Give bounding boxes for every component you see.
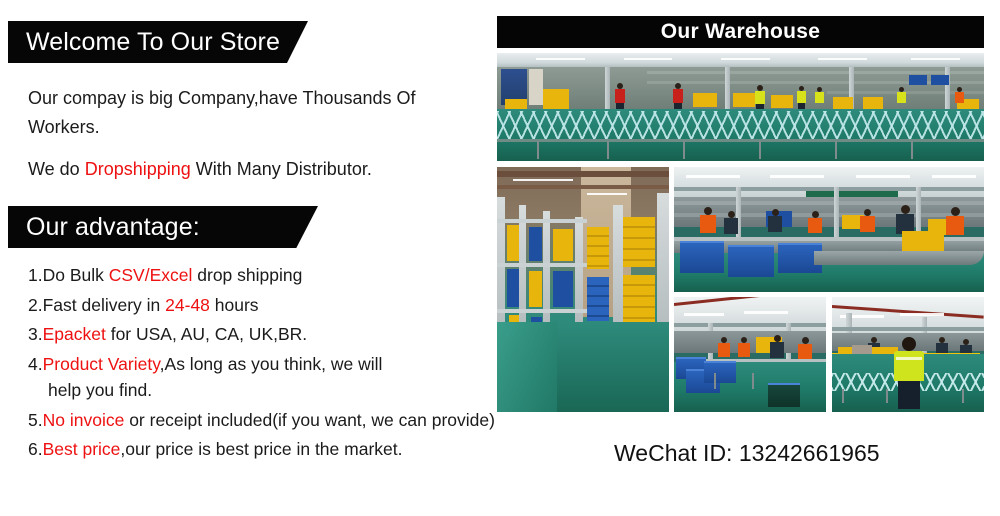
worker (860, 209, 875, 239)
worker-head (864, 209, 871, 216)
blue-bin (931, 75, 949, 85)
support-column (605, 67, 610, 111)
ceiling-lamp (770, 175, 824, 178)
yellow-drawer-bank (623, 275, 655, 327)
list-item-number: 5. (28, 412, 43, 430)
roof-beam (674, 323, 826, 327)
worker-head (951, 207, 960, 216)
photo-packing-line-blue-crates (674, 297, 826, 412)
conveyor-leg (714, 373, 716, 389)
scissor-lattice (497, 111, 984, 141)
foreground-worker (894, 337, 924, 409)
list-item-highlight: Epacket (43, 324, 106, 344)
ceiling-lamp (856, 175, 910, 178)
ceiling-lamp (686, 175, 740, 178)
list-item-post: drop shipping (192, 265, 302, 285)
list-item-post: ,As long as you think, we will (160, 354, 383, 374)
list-item-highlight: No invoice (43, 410, 125, 430)
list-item-pre: Do Bulk (43, 265, 109, 285)
photo-sorting-line-workers (674, 167, 984, 292)
worker-vest (797, 91, 806, 103)
list-item-highlight: Best price (43, 439, 121, 459)
photo-storage-racks-aisle (497, 167, 669, 412)
list-item-highlight: 24-48 (165, 295, 210, 315)
worker (615, 83, 625, 111)
ceiling-lamp (900, 313, 944, 316)
worker-vest (615, 89, 625, 103)
yellow-bin (771, 95, 793, 108)
worker-head (772, 209, 779, 216)
shelf-rail (647, 71, 984, 74)
ceiling-lamp (536, 58, 585, 60)
list-item-highlight: Product Variety (43, 354, 160, 374)
yellow-bin (733, 93, 755, 107)
worker (955, 87, 964, 111)
worker (673, 83, 683, 111)
yellow-drawer-bank (623, 217, 655, 267)
yellow-bin (507, 225, 519, 261)
list-item-highlight: CSV/Excel (109, 265, 193, 285)
worker-vest (798, 344, 812, 359)
yellow-bin (863, 97, 883, 109)
conveyor-leg (759, 141, 761, 159)
promo-banner-page: Welcome To Our Store Our compay is big C… (0, 0, 1000, 516)
intro-line-2-post: With Many Distributor. (191, 159, 372, 179)
worker-vest (718, 343, 730, 357)
worker-vest (755, 91, 765, 104)
blue-drawer-bank (587, 277, 609, 321)
shelf-rail (674, 213, 984, 217)
worker (815, 87, 824, 111)
scissor-conveyor (497, 111, 984, 141)
blue-crate (728, 245, 774, 277)
worker-vest (860, 216, 875, 232)
warehouse-photo-column: Our Warehouse (494, 0, 1000, 516)
packing-scene (674, 297, 826, 412)
intro-text-block: Our compay is big Company,have Thousands… (28, 84, 488, 184)
blue-bin (529, 227, 542, 261)
worker-vest (946, 216, 964, 235)
ceiling-lamp (911, 58, 960, 60)
shelf-rail (497, 263, 587, 267)
photo-yellow-table-packing-worker (832, 297, 984, 412)
blue-crate (680, 241, 724, 273)
worker-head (728, 211, 735, 218)
worker-vest (700, 215, 716, 233)
store-info-column: Welcome To Our Store Our compay is big C… (0, 0, 494, 516)
list-item-number: 4. (28, 354, 43, 374)
intro-line-2-highlight: Dropshipping (85, 159, 191, 179)
ceiling-lamp (721, 58, 770, 60)
worker-jacket (724, 218, 738, 234)
yellow-bin (833, 97, 853, 109)
roof-beam (497, 171, 669, 177)
worker-vest (738, 343, 750, 357)
worker-head (704, 207, 712, 215)
worker (768, 209, 782, 239)
worker-trousers (898, 381, 920, 409)
ceiling-lamp (818, 58, 867, 60)
worker-head (812, 211, 819, 218)
worker-vest (673, 89, 683, 103)
list-item-post: hours (210, 295, 259, 315)
roof-beam (832, 327, 984, 331)
conveyor-leg (842, 389, 844, 403)
worker-head (774, 335, 781, 342)
list-item-number: 6. (28, 441, 43, 459)
shelf-rail (674, 201, 984, 205)
vest-reflective-stripe (896, 357, 922, 360)
conveyor-leg (962, 389, 964, 403)
warehouse-banner: Our Warehouse (497, 16, 984, 48)
ceiling-lamp (587, 193, 627, 195)
conveyor-leg (886, 389, 888, 403)
roof-beam (497, 185, 669, 189)
list-item-text: Product Variety,As long as you think, we… (43, 354, 383, 374)
yellow-table-scene (832, 297, 984, 412)
wall-panel (529, 69, 543, 105)
worker-vest (808, 218, 822, 233)
list-item-post: for USA, AU, CA, UK,BR. (106, 324, 307, 344)
worker (808, 211, 822, 239)
conveyor-leg (683, 141, 685, 159)
list-item-text: Fast delivery in 24-48 hours (43, 297, 259, 315)
dark-crate (768, 383, 800, 407)
yellow-tub (902, 231, 944, 251)
conveyor-leg (537, 141, 539, 159)
ceiling-lamp (624, 58, 673, 60)
list-item-text: Do Bulk CSV/Excel drop shipping (43, 267, 303, 285)
list-item-text: No invoice or receipt included(if you wa… (43, 412, 495, 430)
conveyor-leg (752, 373, 754, 389)
ceiling (497, 53, 984, 67)
intro-line-2-pre: We do (28, 159, 85, 179)
conveyor-leg (911, 141, 913, 159)
worker-vest (955, 92, 964, 103)
worker-vest (815, 92, 824, 103)
worker (797, 86, 806, 111)
ceiling-lamp (684, 313, 724, 316)
photo-panorama-conveyor-hall (497, 53, 984, 161)
blue-crate (704, 361, 736, 383)
worker-jacket (770, 342, 784, 358)
list-item-number: 3. (28, 326, 43, 344)
welcome-banner: Welcome To Our Store (8, 21, 308, 63)
list-item-post: ,our price is best price in the market. (120, 439, 402, 459)
worker (700, 207, 716, 241)
sorting-scene (674, 167, 984, 292)
ceiling-lamp (744, 311, 788, 314)
worker-head (901, 205, 910, 214)
blue-bin (553, 271, 573, 307)
worker-jacket (768, 216, 782, 232)
worker (946, 207, 964, 241)
worker (755, 85, 765, 111)
warehouse-banner-label: Our Warehouse (661, 20, 820, 44)
wechat-id-label: WeChat ID: 13242661965 (614, 440, 1000, 467)
racks-scene (497, 167, 669, 412)
curved-conveyor (814, 251, 984, 265)
yellow-bin (693, 93, 717, 107)
blue-bin (507, 269, 519, 307)
shelf-rail (497, 219, 587, 223)
shelf-rail (497, 309, 587, 313)
list-item-number: 1. (28, 267, 43, 285)
ceiling-lamp (932, 175, 976, 178)
intro-line-1: Our compay is big Company,have Thousands… (28, 84, 488, 142)
welcome-banner-label: Welcome To Our Store (8, 30, 280, 55)
worker-hi-vis-vest (894, 351, 924, 381)
worker-vest (897, 92, 906, 103)
worker-head (902, 337, 916, 351)
yellow-bin (553, 229, 573, 261)
list-item-post: or receipt included(if you want, we can … (124, 410, 495, 430)
intro-line-2: We do Dropshipping With Many Distributor… (28, 155, 488, 184)
yellow-drawer-bank (587, 227, 609, 269)
conveyor-leg (835, 141, 837, 159)
yellow-bin (529, 271, 542, 307)
blue-bin (909, 75, 927, 85)
advantage-banner: Our advantage: (8, 206, 318, 248)
worker (897, 87, 906, 111)
advantage-banner-label: Our advantage: (8, 215, 200, 240)
list-item-number: 2. (28, 297, 43, 315)
list-item-text: Epacket for USA, AU, CA, UK,BR. (43, 326, 308, 344)
ceiling-lamp (513, 179, 573, 181)
list-item-pre: Fast delivery in (43, 295, 166, 315)
list-item-text: Best price,our price is best price in th… (43, 441, 403, 459)
yellow-bin (543, 89, 569, 111)
panorama-scene (497, 53, 984, 161)
support-column (725, 67, 730, 111)
floor-highlight (497, 322, 557, 412)
conveyor-leg (607, 141, 609, 159)
support-column (945, 67, 950, 111)
worker-head (802, 337, 809, 344)
